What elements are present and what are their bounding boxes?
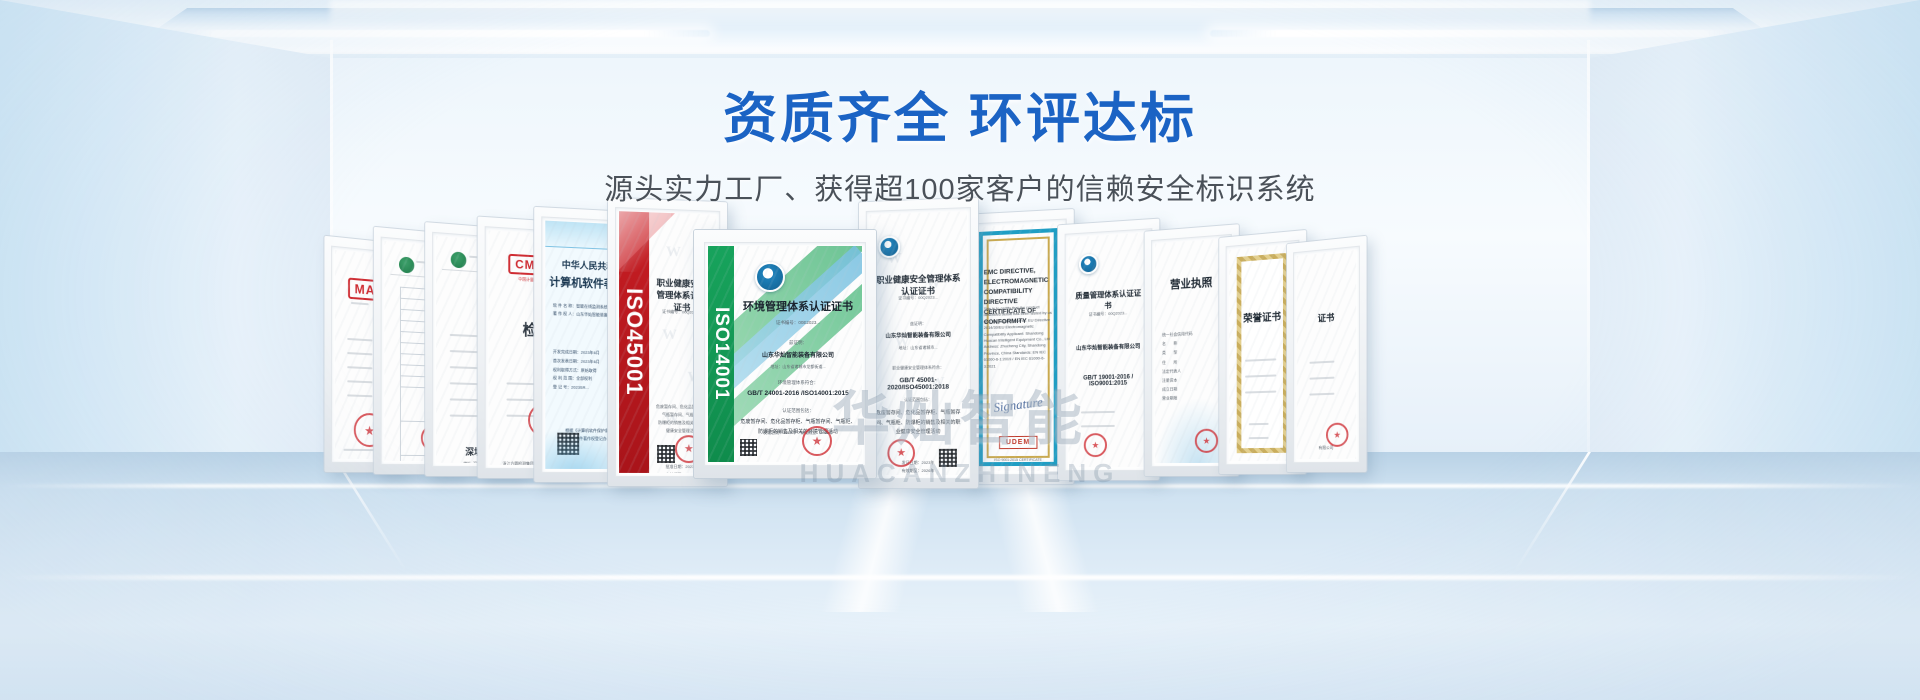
cert-scope: 危废暂存间、危化品暂存柜、气瓶暂存间、气瓶柜、防爆柜的销售及相关的环境管理活动 <box>740 418 856 437</box>
udem-badge: UDEM <box>999 436 1037 449</box>
emc-outer-border <box>979 228 1058 466</box>
certificate-inner: WW WW W 职业健康安全管理体系认证证书 证书编号：00Q2023... 兹… <box>866 207 971 479</box>
red-seal: ★ <box>1326 423 1348 447</box>
env-background <box>708 246 862 462</box>
signature: Signature <box>993 394 1044 416</box>
emc-body: This is to certify that the product desc… <box>984 304 1057 370</box>
cert-heading: 质量管理体系认证证书 <box>1074 287 1142 312</box>
cert-heading: 营业执照 <box>1155 273 1228 293</box>
qr-code <box>557 433 579 455</box>
certificate-paper: EMC DIRECTIVE, ELECTROMAGNETIC COMPATIBI… <box>974 223 1063 471</box>
certificate-paper: ISO14001 环境管理体系认证证书 证书编号：00E2023... 兹证明：… <box>708 246 862 462</box>
red-seal: ★ <box>1084 433 1107 457</box>
emc-line-2: ELECTROMAGNETIC COMPATIBILITY DIRECTIVE <box>984 277 1049 307</box>
certificate-paper: 证书 有限公司 ★ <box>1297 250 1356 459</box>
certification-emblem <box>878 236 900 259</box>
red-seal: ★ <box>802 426 832 456</box>
cert-footer: 有限公司 <box>1300 445 1352 452</box>
certificate-paper: 质量管理体系认证证书 证书编号：00Q2023... 山东华灿智能装备有限公司 … <box>1068 232 1148 467</box>
cert-heading: 职业健康安全管理体系认证证书 <box>876 272 961 298</box>
company-name: 山东华灿智能装备有限公司 <box>740 350 856 359</box>
page-title: 资质齐全环评达标 <box>0 88 1920 150</box>
qr-code <box>740 439 757 456</box>
certificate-frame[interactable]: 证书 有限公司 ★ <box>1287 236 1367 472</box>
page-subtitle: 源头实力工厂、获得超100家客户的信赖安全标识系统 <box>0 166 1920 208</box>
certification-emblem <box>1079 254 1098 275</box>
page-title-part-2: 环评达标 <box>969 89 1197 149</box>
certification-emblem <box>755 262 785 292</box>
certificate-inner: 证书 有限公司 ★ <box>1293 246 1360 464</box>
cert-scope: 危废暂存间、危化品暂存柜、气瓶暂存间、气瓶柜、防爆柜的销售及相关的职业健康安全管… <box>876 409 961 438</box>
gold-border <box>1237 253 1288 453</box>
iso14001-sidebar: ISO14001 <box>708 246 734 462</box>
company-name: 山东华灿智能装备有限公司 <box>876 330 961 340</box>
certificate-frame[interactable]: WW WW W 职业健康安全管理体系认证证书 证书编号：00Q2023... 兹… <box>859 198 978 488</box>
paper-watermark: WW WW W <box>870 211 967 475</box>
cert-heading: 证书 <box>1297 309 1356 326</box>
emc-footer: ISO 9001:2015 CERTIFICATE <box>981 457 1055 463</box>
cnas-badge <box>399 256 414 273</box>
iso45001-label: ISO45001 <box>621 288 647 396</box>
certificate-inner: 质量管理体系认证证书 证书编号：00Q2023... 山东华灿智能装备有限公司 … <box>1065 228 1153 471</box>
page-title-part-1: 资质齐全 <box>723 89 951 149</box>
emc-inner-border <box>987 236 1050 458</box>
standard-code: GB/T 19001-2016 / ISO9001:2015 <box>1074 374 1142 388</box>
emc-title: EMC DIRECTIVE, ELECTROMAGNETIC COMPATIBI… <box>984 265 1057 328</box>
iso45001-sidebar: ISO45001 <box>619 211 649 473</box>
headings-block: 资质齐全环评达标 源头实力工厂、获得超100家客户的信赖安全标识系统 <box>0 88 1920 208</box>
certificate-banner: 资质齐全环评达标 源头实力工厂、获得超100家客户的信赖安全标识系统 MA ★ <box>0 0 1920 700</box>
standard-code: GB/T 24001-2016 /ISO14001:2015 <box>740 390 856 397</box>
certificate-frame-featured[interactable]: ISO14001 环境管理体系认证证书 证书编号：00E2023... 兹证明：… <box>694 230 876 478</box>
certificate-paper: 营业执照 统一社会信用代码名 称类 型住 所法定代表人注册资本成立日期营业期限 … <box>1155 238 1228 463</box>
emc-line-3: CERTIFICATE OF CONFORMITY <box>984 308 1036 327</box>
company-name: 山东华灿智能装备有限公司 <box>1074 342 1142 352</box>
standard-code: GB/T 45001-2020/ISO45001:2018 <box>876 376 961 391</box>
emc-line-1: EMC DIRECTIVE, <box>984 267 1036 276</box>
cnas-badge <box>451 251 467 268</box>
iso14001-label: ISO14001 <box>710 307 732 401</box>
corner-decoration <box>619 211 675 271</box>
red-seal: ★ <box>1195 429 1218 453</box>
cert-heading: 荣誉证书 <box>1229 307 1295 326</box>
certificate-paper: WW WW W 职业健康安全管理体系认证证书 证书编号：00Q2023... 兹… <box>870 211 967 475</box>
certificate-paper: 荣誉证书 <box>1229 244 1295 461</box>
corner-fold <box>619 211 671 273</box>
license-decoration <box>1155 398 1228 463</box>
cert-heading: 环境管理体系认证证书 <box>740 298 856 314</box>
certificate-inner: ISO14001 环境管理体系认证证书 证书编号：00E2023... 兹证明：… <box>704 242 866 466</box>
certificate-inner: EMC DIRECTIVE, ELECTROMAGNETIC COMPATIBI… <box>970 218 1067 475</box>
qr-code <box>939 449 957 467</box>
qr-code <box>657 445 675 463</box>
red-seal: ★ <box>887 439 915 467</box>
